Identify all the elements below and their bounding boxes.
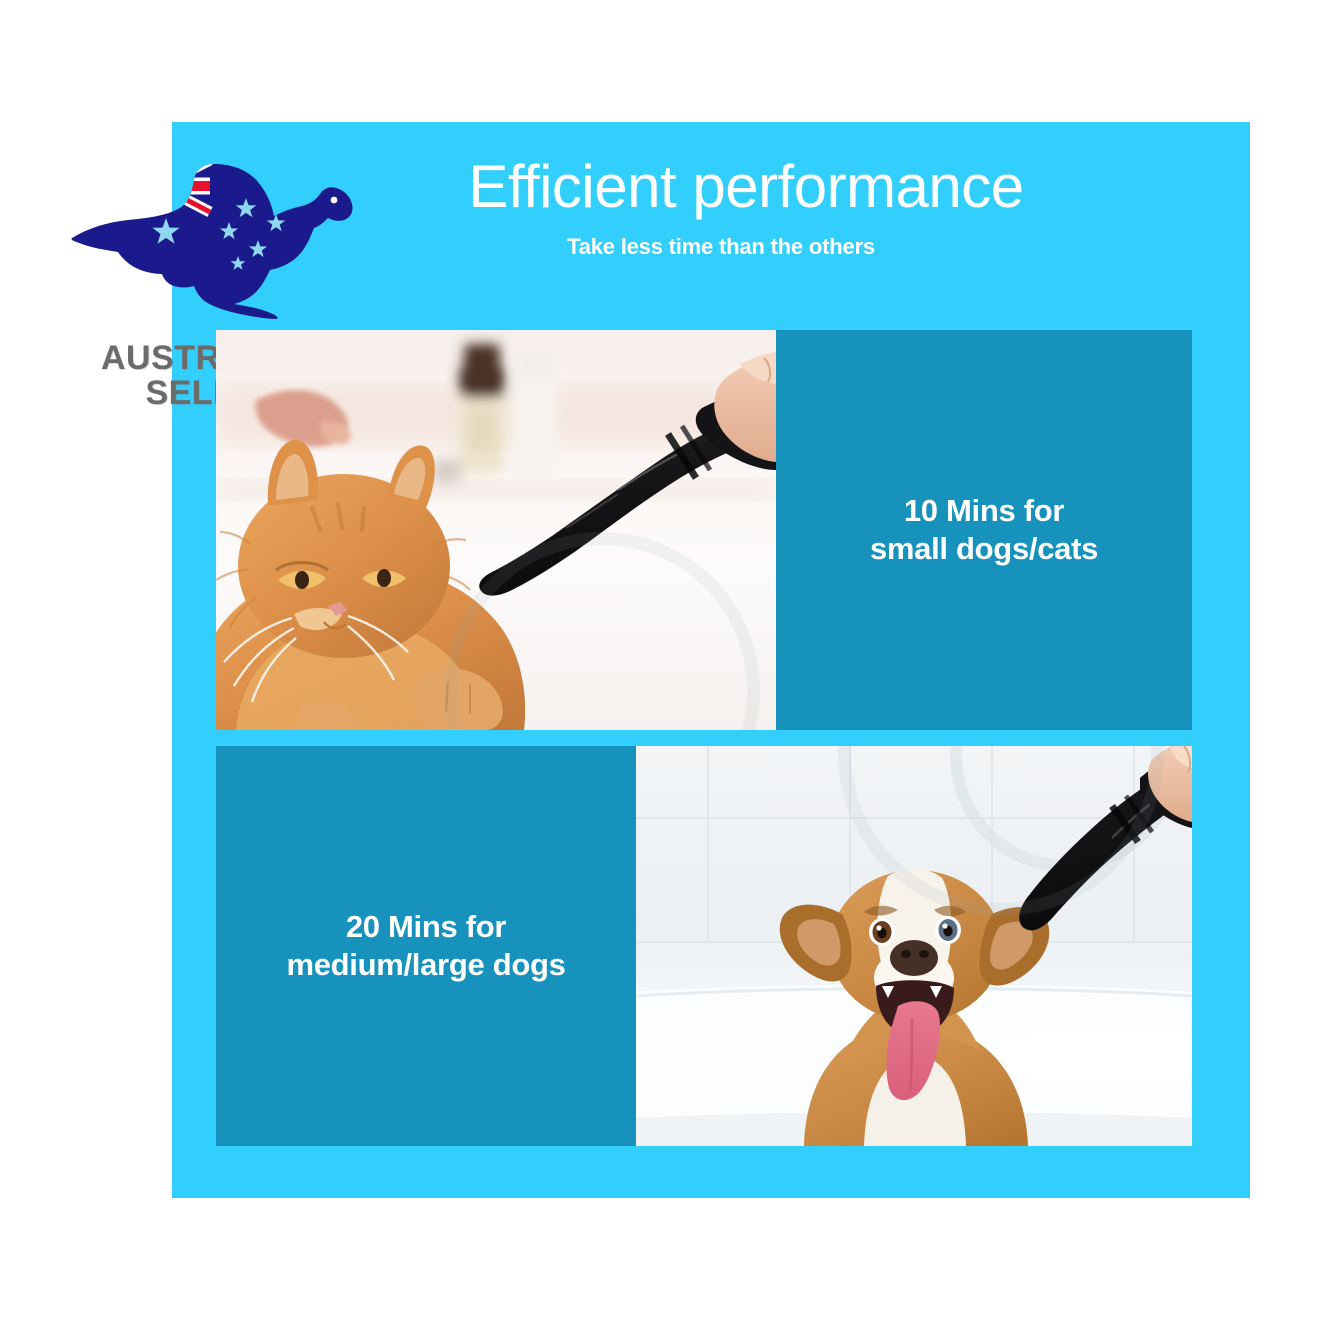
feature-grid: 10 Mins for small dogs/cats 20 Mins for … <box>216 330 1192 1152</box>
page-canvas: Efficient performance Take less time tha… <box>0 0 1320 1320</box>
label-small-line-2: small dogs/cats <box>870 530 1098 568</box>
kangaroo-eye-icon <box>331 197 338 204</box>
dog-photo-artwork <box>636 746 1192 1146</box>
cat-being-dried-photo <box>216 330 776 730</box>
kangaroo-silhouette <box>71 164 352 319</box>
label-small-line-1: 10 Mins for <box>870 492 1098 530</box>
label-small-pets-text: 10 Mins for small dogs/cats <box>856 492 1112 568</box>
kangaroo-australian-flag-icon <box>62 160 362 320</box>
feature-row-small-pets: 10 Mins for small dogs/cats <box>216 330 1192 730</box>
label-large-line-2: medium/large dogs <box>286 946 565 984</box>
cat-photo-artwork <box>216 330 776 730</box>
label-small-pets: 10 Mins for small dogs/cats <box>776 330 1192 730</box>
dog-being-dried-photo <box>636 746 1192 1146</box>
feature-row-large-pets: 20 Mins for medium/large dogs <box>216 746 1192 1146</box>
label-large-pets: 20 Mins for medium/large dogs <box>216 746 636 1146</box>
label-large-line-1: 20 Mins for <box>286 908 565 946</box>
label-large-pets-text: 20 Mins for medium/large dogs <box>272 908 579 984</box>
